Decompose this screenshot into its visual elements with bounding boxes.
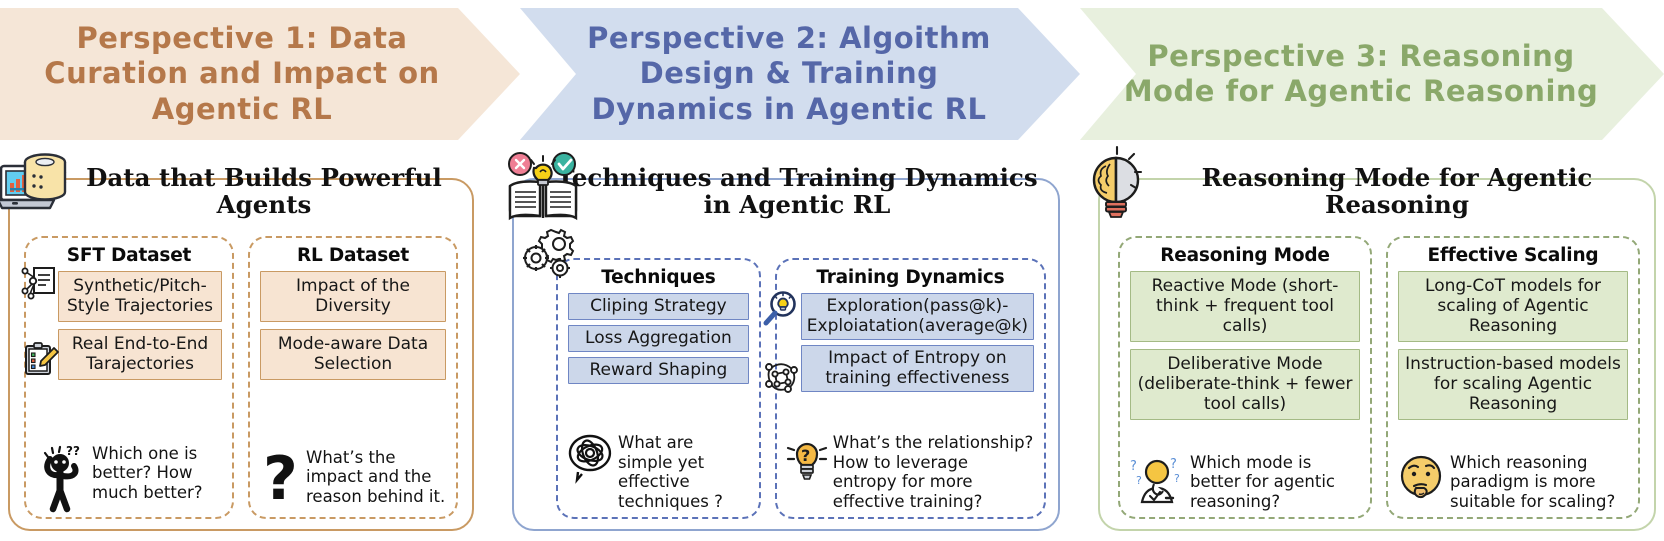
clipboard-pencil-icon (24, 342, 58, 376)
thinking-face-icon (1398, 454, 1444, 502)
question-reasoning-mode: ? ? ? ? Which mode is better for agentic… (1130, 452, 1360, 511)
document-node-icon (22, 266, 58, 300)
column-sft-dataset: SFT Dataset Synthetic/Pitch-Style Trajec… (24, 236, 234, 519)
panel-reasoning-mode-title: Reasoning Mode for Agentic Reasoning (1100, 164, 1654, 219)
question-sft-text: Which one is better? How much better? (92, 444, 222, 502)
gears-icon (522, 228, 578, 280)
panel-reasoning-columns: Reasoning Mode Reactive Mode (short-thin… (1118, 236, 1640, 519)
book-lightbulb-icon (506, 150, 580, 224)
svg-text:?: ? (1174, 472, 1180, 485)
chip-reasoning-mode-1[interactable]: Reactive Mode (short-think + frequent to… (1130, 271, 1360, 342)
chip-technique-3[interactable]: Reward Shaping (568, 357, 749, 384)
question-mark-icon: ? (260, 449, 300, 511)
panel-techniques-training: Techniques and Training Dynamics in Agen… (512, 178, 1060, 531)
panel-data-curation-columns: SFT Dataset Synthetic/Pitch-Style Trajec… (24, 236, 458, 519)
column-training-dynamics-title: Training Dynamics (787, 267, 1034, 288)
banner-perspective-2-label: Perspective 2: Algoithm Design & Trainin… (558, 21, 1020, 127)
panel-techniques-training-title: Techniques and Training Dynamics in Agen… (514, 164, 1058, 219)
panel-reasoning-mode: Reasoning Mode for Agentic Reasoning Rea… (1098, 178, 1656, 531)
panel-data-curation: Data that Builds Powerful Agents (8, 178, 474, 531)
chip-sft-2[interactable]: Real End-to-End Tarajectories (58, 329, 222, 380)
column-reasoning-mode: Reasoning Mode Reactive Mode (short-thin… (1118, 236, 1372, 519)
svg-text:?: ? (1136, 474, 1142, 487)
thinking-person-icon: ? ? ? ? (1130, 454, 1184, 504)
chip-scaling-2[interactable]: Instruction-based models for scaling Age… (1398, 349, 1628, 420)
question-techniques: What are simple yet effective techniques… (568, 432, 749, 511)
svg-text:?: ? (263, 444, 298, 514)
banner-perspective-1: Perspective 1: Data Curation and Impact … (0, 8, 520, 140)
chip-reasoning-mode-2[interactable]: Deliberative Mode (deliberate-think + fe… (1130, 349, 1360, 420)
chip-sft-1[interactable]: Synthetic/Pitch-Style Trajectories (58, 271, 222, 322)
speech-spiral-icon (568, 434, 612, 480)
chip-rl-2[interactable]: Mode-aware Data Selection (260, 329, 446, 380)
question-training-dynamics: ? What’s the relationship? How to levera… (787, 432, 1034, 511)
chip-dynamics-2[interactable]: Impact of Entropy on training effectiven… (801, 345, 1034, 392)
column-effective-scaling: Effective Scaling Long-CoT models for sc… (1386, 236, 1640, 519)
question-training-dynamics-text: What’s the relationship? How to leverage… (833, 433, 1034, 511)
column-training-dynamics: Training Dynamics Exploration(pass@k)-Ex… (775, 258, 1046, 519)
question-techniques-text: What are simple yet effective techniques… (618, 433, 749, 511)
lightbulb-question-icon: ? (787, 434, 827, 484)
confused-person-icon: ?? (36, 445, 86, 511)
svg-text:?: ? (1170, 457, 1177, 472)
banner-perspective-2: Perspective 2: Algoithm Design & Trainin… (520, 8, 1080, 140)
question-effective-scaling-text: Which reasoning paradigm is more suitabl… (1450, 453, 1628, 511)
banner-perspective-3-label: Perspective 3: Reasoning Mode for Agenti… (1120, 39, 1602, 110)
chip-technique-1[interactable]: Cliping Strategy (568, 293, 749, 320)
perspective-banner-row: Perspective 1: Data Curation and Impact … (0, 0, 1664, 150)
banner-perspective-1-label: Perspective 1: Data Curation and Impact … (22, 21, 462, 127)
laptop-database-icon (0, 152, 70, 218)
network-nodes-icon (763, 358, 801, 396)
column-sft-dataset-title: SFT Dataset (36, 245, 222, 266)
panel-data-curation-title: Data that Builds Powerful Agents (10, 164, 472, 219)
brain-bulb-icon (1086, 146, 1148, 220)
column-rl-dataset-title: RL Dataset (260, 245, 446, 266)
column-techniques: Techniques Cliping Strategy Loss Aggrega… (556, 258, 761, 519)
magnifier-bulb-icon (763, 290, 801, 328)
svg-text:??: ?? (66, 444, 80, 458)
chip-scaling-1[interactable]: Long-CoT models for scaling of Agentic R… (1398, 271, 1628, 342)
svg-text:?: ? (801, 446, 810, 465)
column-reasoning-mode-title: Reasoning Mode (1130, 245, 1360, 266)
chip-rl-1[interactable]: Impact of the Diversity (260, 271, 446, 322)
question-rl: ? What’s the impact and the reason behin… (260, 447, 446, 511)
question-sft: ?? Which one is better? How much better? (36, 443, 222, 511)
svg-text:?: ? (1130, 459, 1137, 474)
column-rl-dataset: RL Dataset Impact of the Diversity Mode-… (248, 236, 458, 519)
question-rl-text: What’s the impact and the reason behind … (306, 448, 446, 506)
chip-dynamics-1[interactable]: Exploration(pass@k)-Exploiatation(averag… (801, 293, 1034, 340)
column-effective-scaling-title: Effective Scaling (1398, 245, 1628, 266)
question-reasoning-mode-text: Which mode is better for agentic reasoni… (1190, 453, 1360, 511)
chip-technique-2[interactable]: Loss Aggregation (568, 325, 749, 352)
question-effective-scaling: Which reasoning paradigm is more suitabl… (1398, 452, 1628, 511)
banner-perspective-3: Perspective 3: Reasoning Mode for Agenti… (1080, 8, 1664, 140)
column-techniques-title: Techniques (568, 267, 749, 288)
panel-techniques-columns: Techniques Cliping Strategy Loss Aggrega… (556, 258, 1046, 519)
